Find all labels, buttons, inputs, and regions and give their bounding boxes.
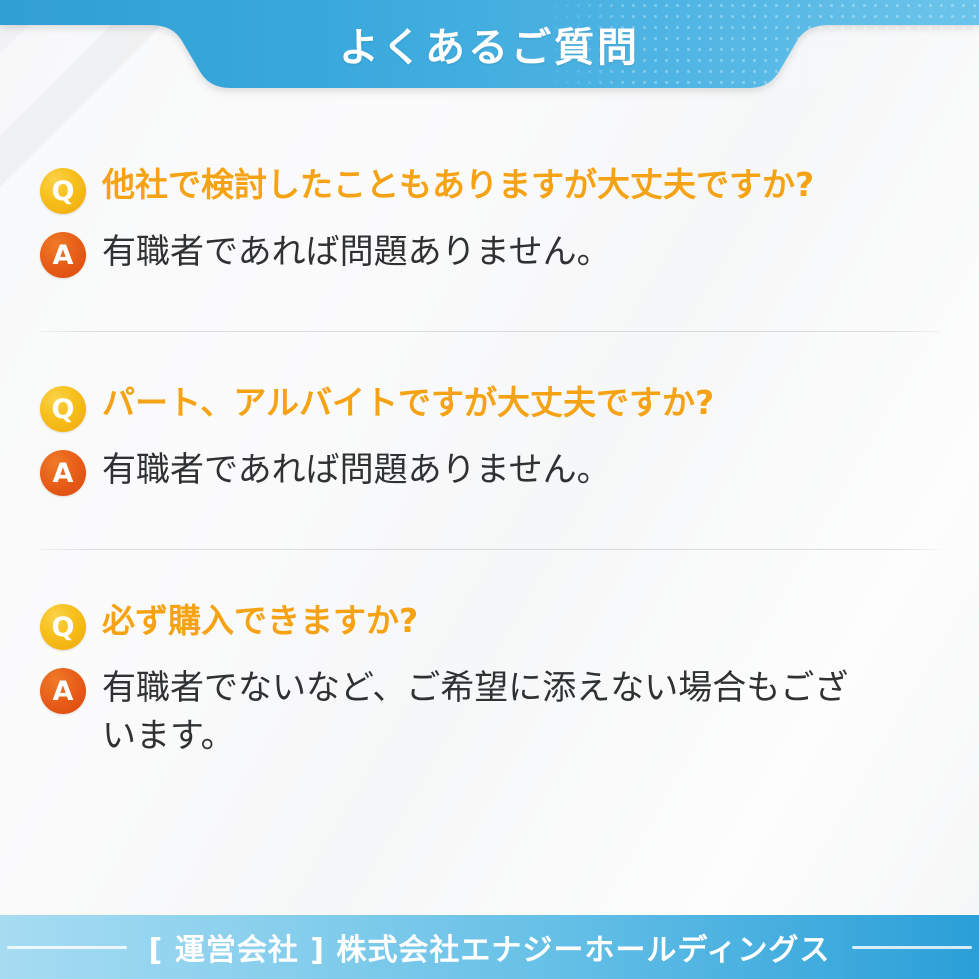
faq-item: Q 他社で検討したこともありますが大丈夫ですか? A 有職者であれば問題ありませ… [0, 108, 979, 278]
faq-question-row: Q パート、アルバイトですが大丈夫ですか? [40, 382, 939, 432]
faq-answer-text: 有職者であれば問題ありません。 [102, 228, 611, 276]
faq-item: Q 必ず購入できますか? A 有職者でないなど、ご希望に添えない場合もございます… [0, 550, 979, 761]
footer-rule-left [7, 946, 127, 949]
question-badge: Q [40, 604, 86, 650]
question-badge: Q [40, 168, 86, 214]
faq-answer-row: A 有職者でないなど、ご希望に添えない場合もございます。 [40, 664, 939, 761]
faq-answer-text: 有職者でないなど、ご希望に添えない場合もございます。 [102, 664, 872, 761]
answer-badge: A [40, 450, 86, 496]
faq-answer-row: A 有職者であれば問題ありません。 [40, 228, 939, 278]
faq-question-text: 他社で検討したこともありますが大丈夫ですか? [102, 164, 814, 206]
footer-company-text: [ 運営会社 ] 株式会社エナジーホールディングス [149, 925, 831, 969]
question-badge: Q [40, 386, 86, 432]
faq-answer-text: 有職者であれば問題ありません。 [102, 446, 611, 494]
answer-badge: A [40, 232, 86, 278]
faq-question-text: 必ず購入できますか? [102, 600, 418, 642]
footer-bar: [ 運営会社 ] 株式会社エナジーホールディングス [0, 915, 979, 979]
page-title: よくあるご質問 [0, 0, 979, 88]
faq-answer-row: A 有職者であれば問題ありません。 [40, 446, 939, 496]
faq-question-row: Q 必ず購入できますか? [40, 600, 939, 650]
header-banner: よくあるご質問 [0, 0, 979, 108]
faq-question-row: Q 他社で検討したこともありますが大丈夫ですか? [40, 164, 939, 214]
faq-item: Q パート、アルバイトですが大丈夫ですか? A 有職者であれば問題ありません。 [0, 332, 979, 496]
answer-badge: A [40, 668, 86, 714]
faq-list: Q 他社で検討したこともありますが大丈夫ですか? A 有職者であれば問題ありませ… [0, 108, 979, 761]
faq-page: よくあるご質問 Q 他社で検討したこともありますが大丈夫ですか? A 有職者であ… [0, 0, 979, 979]
faq-question-text: パート、アルバイトですが大丈夫ですか? [102, 382, 714, 424]
footer-rule-right [852, 946, 972, 949]
